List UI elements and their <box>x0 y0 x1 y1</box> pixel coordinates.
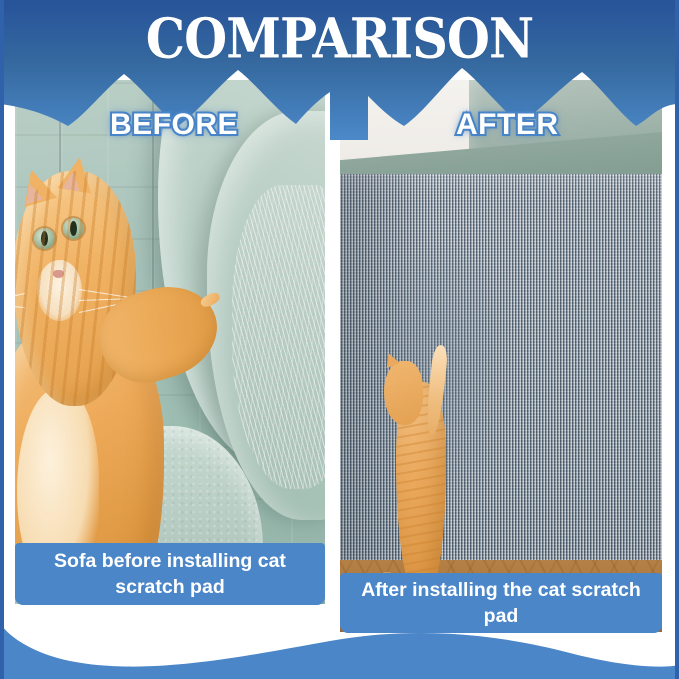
comparison-infographic: COMPARISON BEFORE AFTER Sofa before inst… <box>0 0 679 679</box>
before-badge: BEFORE <box>110 108 238 142</box>
cat-head <box>384 361 423 425</box>
page-title: COMPARISON <box>17 12 662 67</box>
after-photo <box>340 80 662 632</box>
before-caption: Sofa before installing cat scratch pad <box>15 543 325 605</box>
before-photo <box>15 80 325 604</box>
bottom-wave-decoration <box>0 609 679 679</box>
before-cat <box>15 153 213 604</box>
before-photo-panel <box>15 80 325 604</box>
after-photo-panel <box>340 80 662 632</box>
after-badge: AFTER <box>456 108 559 142</box>
